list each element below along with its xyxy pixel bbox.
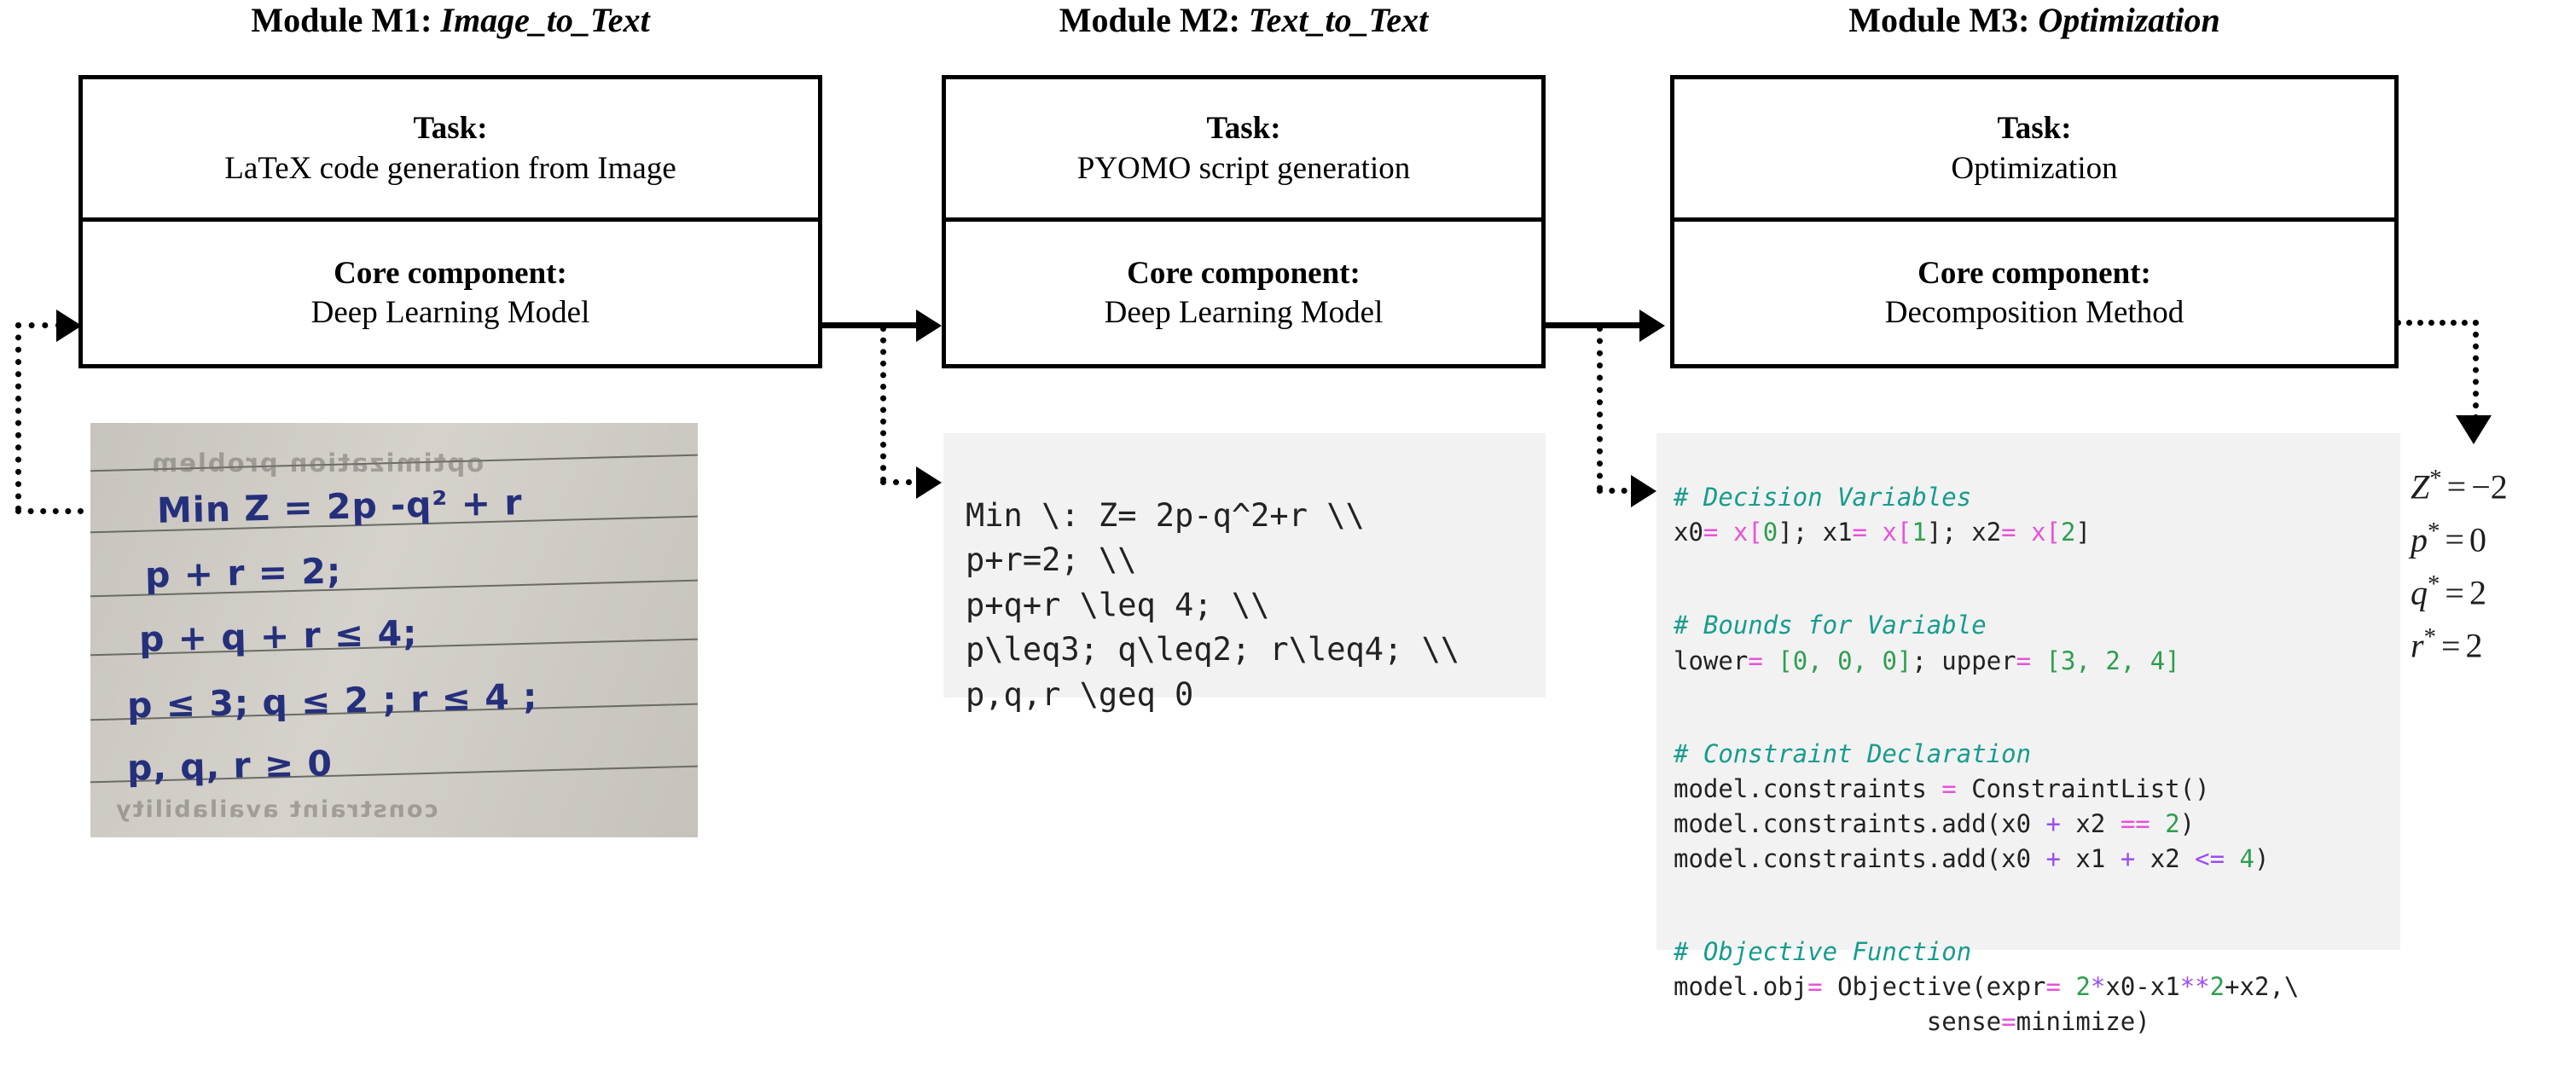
pyomo-line-bounds: lower= [0, 0, 0]; upper= [3, 2, 4] [1674, 644, 2383, 679]
module-m2-core-label: Core component: [1127, 256, 1361, 291]
latex-line: p+q+r \leq 4; \\ [966, 583, 1523, 628]
result-equals: = [2447, 467, 2467, 506]
module-m1-task-cell: Task: LaTeX code generation from Image [83, 79, 818, 222]
module-m2-task-cell: Task: PYOMO script generation [946, 79, 1541, 222]
module-box-m3[interactable]: Task: Optimization Core component: Decom… [1670, 75, 2399, 368]
pyomo-comment-objective: # Objective Function [1674, 935, 2383, 970]
m1-to-m2-line [822, 322, 920, 328]
pyomo-comment-bounds: # Bounds for Variable [1674, 608, 2383, 643]
pyomo-blank-line [1674, 877, 2383, 900]
result-equals: = [2445, 520, 2464, 559]
pyomo-blank-line [1674, 679, 2383, 702]
result-star-icon: * [2429, 465, 2441, 492]
pyomo-line-constraint-list: model.constraints = ConstraintList() [1674, 772, 2383, 807]
note-handwritten-line: p + r = 2; [145, 550, 342, 595]
input-connector-vertical [15, 322, 21, 512]
result-equals: = [2441, 627, 2461, 665]
result-star-icon: * [2428, 570, 2440, 598]
m2-to-m3-arrowhead-icon [1639, 310, 1665, 342]
latex-line: Min \: Z= 2p-q^2+r \\ [966, 494, 1523, 539]
handwritten-problem-image: optimization problem constraint availabi… [90, 423, 698, 837]
module-m2-core-value: Deep Learning Model [1105, 295, 1384, 330]
m3-to-results-arrowhead-icon [2456, 415, 2492, 444]
diagram-canvas: Module M1: Image_to_Text Task: LaTeX cod… [0, 0, 2576, 1071]
latex-line: p\leq3; q\leq2; r\leq4; \\ [966, 628, 1523, 673]
module-title-m1-name: Image_to_Text [441, 1, 650, 39]
result-star-icon: * [2428, 518, 2440, 545]
module-m3-core-cell: Core component: Decomposition Method [1674, 222, 2394, 364]
module-m1-core-cell: Core component: Deep Learning Model [83, 222, 818, 364]
module-m3-task-label: Task: [1997, 111, 2071, 146]
module-title-m1-prefix: Module M1: [251, 1, 440, 39]
module-m1-core-value: Deep Learning Model [311, 295, 590, 330]
module-title-m1: Module M1: Image_to_Text [77, 0, 824, 40]
result-row-r: r*=2 [2411, 619, 2576, 672]
m2-branch-arrowhead-icon [1631, 475, 1656, 507]
note-ghost-text-bottom: constraint availability [114, 796, 438, 823]
pyomo-blank-line [1674, 551, 2383, 574]
result-value-r: 2 [2466, 627, 2483, 665]
pyomo-line-constraint-2: model.constraints.add(x0 + x1 + x2 <= 4) [1674, 842, 2383, 877]
pyomo-line-constraint-1: model.constraints.add(x0 + x2 == 2) [1674, 807, 2383, 842]
result-value-q: 2 [2469, 574, 2486, 612]
module-m2-core-cell: Core component: Deep Learning Model [946, 222, 1541, 364]
m3-to-results-horizontal [2395, 320, 2479, 326]
latex-line: p,q,r \geq 0 [966, 673, 1523, 718]
input-connector-bottom [15, 508, 84, 514]
result-value-p: 0 [2469, 520, 2486, 559]
module-m2-task-label: Task: [1206, 111, 1280, 146]
input-arrowhead-icon [56, 310, 82, 342]
m1-to-m2-arrowhead-icon [916, 310, 942, 342]
input-connector-top [15, 322, 61, 328]
module-m3-task-cell: Task: Optimization [1674, 79, 2394, 222]
latex-line: p+r=2; \\ [966, 538, 1523, 583]
module-m3-core-label: Core component: [1917, 256, 2151, 291]
result-symbol-z: Z [2411, 467, 2429, 506]
module-m3-core-value: Decomposition Method [1885, 295, 2184, 330]
pyomo-line-objective-sense: sense=minimize) [1674, 1004, 2383, 1039]
result-symbol-r: r [2411, 627, 2424, 665]
note-handwritten-line: Min Z = 2p -q² + r [157, 482, 524, 531]
result-symbol-p: p [2411, 520, 2428, 559]
result-row-z: Z*=−2 [2411, 460, 2576, 513]
m1-branch-vertical [880, 326, 886, 483]
result-row-q: q*=2 [2411, 566, 2576, 619]
module-m2-task-value: PYOMO script generation [1077, 151, 1411, 186]
module-title-m2-prefix: Module M2: [1059, 1, 1249, 39]
module-box-m2[interactable]: Task: PYOMO script generation Core compo… [942, 75, 1546, 368]
m2-branch-vertical [1597, 326, 1603, 491]
m1-branch-arrowhead-icon [916, 466, 942, 499]
note-handwritten-line: p, q, r ≥ 0 [126, 743, 333, 788]
module-title-m3-prefix: Module M3: [1848, 1, 2038, 39]
module-box-m1[interactable]: Task: LaTeX code generation from Image C… [78, 75, 822, 368]
optimal-results: Z*=−2 p*=0 q*=2 r*=2 [2411, 460, 2576, 673]
result-star-icon: * [2424, 623, 2436, 651]
m3-to-results-vertical [2473, 320, 2479, 420]
note-handwritten-line: p + q + r ≤ 4; [138, 612, 418, 659]
module-m3-task-value: Optimization [1951, 151, 2117, 186]
module-title-m2: Module M2: Text_to_Text [940, 0, 1547, 40]
result-equals: = [2445, 574, 2464, 612]
result-symbol-q: q [2411, 574, 2428, 612]
module-title-m3-name: Optimization [2038, 1, 2219, 39]
module-title-m2-name: Text_to_Text [1249, 1, 1428, 39]
pyomo-output-panel: # Decision Variablesx0= x[0]; x1= x[1]; … [1656, 433, 2400, 950]
pyomo-line-objective: model.obj= Objective(expr= 2*x0-x1**2+x2… [1674, 970, 2383, 1004]
result-value-z: −2 [2471, 467, 2508, 506]
pyomo-line-decision-variables: x0= x[0]; x1= x[1]; x2= x[2] [1674, 515, 2383, 550]
pyomo-comment-decision-variables: # Decision Variables [1674, 480, 2383, 515]
module-m1-task-value: LaTeX code generation from Image [224, 151, 676, 186]
note-ghost-text-top: optimization problem [150, 449, 484, 478]
module-m1-task-label: Task: [413, 111, 487, 146]
latex-output-panel: Min \: Z= 2p-q^2+r \\p+r=2; \\p+q+r \leq… [943, 433, 1546, 698]
result-row-p: p*=0 [2411, 513, 2576, 566]
m2-to-m3-line [1546, 322, 1641, 328]
module-m1-core-label: Core component: [334, 256, 567, 291]
module-title-m3: Module M3: Optimization [1670, 0, 2399, 40]
pyomo-comment-constraints: # Constraint Declaration [1674, 737, 2383, 772]
